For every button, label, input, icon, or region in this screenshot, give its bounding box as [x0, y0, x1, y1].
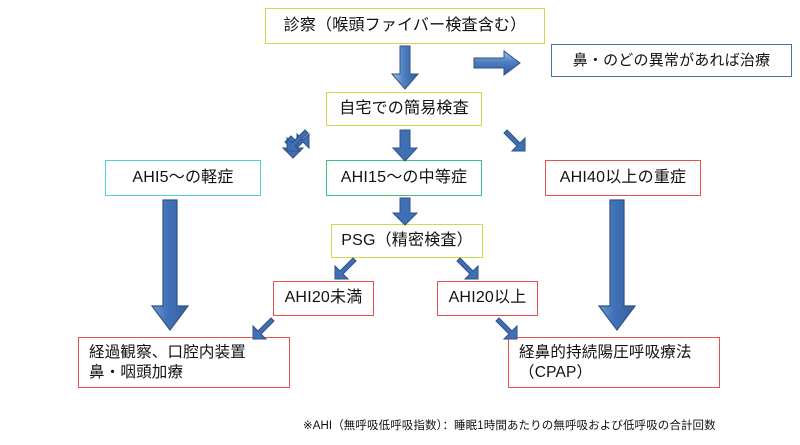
- node-mild: AHI5〜の軽症: [105, 160, 261, 196]
- node-nose-throat-treatment: 鼻・のどの異常があれば治療: [551, 44, 792, 77]
- node-psg-label: PSG（精密検査）: [332, 231, 482, 251]
- node-conservative-treatment: 経過観察、口腔内装置 鼻・咽頭加療: [78, 337, 290, 388]
- node-exam-label: 診察（喉頭ファイバー検査含む）: [266, 16, 544, 36]
- node-cpap-treatment-label: 経鼻的持続陽圧呼吸療法 （CPAP）: [519, 343, 719, 383]
- node-home-test: 自宅での簡易検査: [326, 92, 482, 126]
- footnote-line-1: ※AHI（無呼吸低呼吸指数）：睡眠1時間あたりの無呼吸および低呼吸の合計回数: [303, 420, 716, 432]
- node-ahi20-over-label: AHI20以上: [438, 288, 537, 308]
- node-cpap-treatment: 経鼻的持続陽圧呼吸療法 （CPAP）: [508, 337, 720, 388]
- node-exam: 診察（喉頭ファイバー検査含む）: [265, 8, 545, 44]
- node-severe-label: AHI40以上の重症: [546, 168, 700, 188]
- arrow-home-test-to-moderate: [392, 130, 418, 162]
- node-mild-label: AHI5〜の軽症: [106, 168, 260, 188]
- flowchart-canvas: 診察（喉頭ファイバー検査含む） 鼻・のどの異常があれば治療 自宅での簡易検査 A…: [0, 0, 800, 445]
- node-psg: PSG（精密検査）: [331, 224, 483, 258]
- footnote-ahi-definition: ※AHI（無呼吸低呼吸指数）：睡眠1時間あたりの無呼吸および低呼吸の合計回数 5…: [303, 401, 793, 445]
- node-home-test-label: 自宅での簡易検査: [327, 99, 481, 119]
- node-conservative-treatment-label: 経過観察、口腔内装置 鼻・咽頭加療: [89, 343, 289, 383]
- node-ahi20-under-label: AHI20未満: [274, 288, 373, 308]
- node-moderate-label: AHI15〜の中等症: [327, 168, 481, 188]
- arrow-home-test-to-mild: [281, 130, 313, 162]
- arrow-mild-to-conservative: [150, 200, 190, 332]
- node-moderate: AHI15〜の中等症: [326, 160, 482, 196]
- arrow-home-test-to-severe: [499, 130, 531, 162]
- arrow-moderate-to-psg: [392, 198, 418, 226]
- node-ahi20-over: AHI20以上: [437, 281, 538, 316]
- arrow-exam-to-nose-throat: [474, 50, 522, 76]
- node-nose-throat-treatment-label: 鼻・のどの異常があれば治療: [552, 51, 791, 70]
- arrow-exam-to-home-test: [390, 46, 420, 90]
- node-ahi20-under: AHI20未満: [273, 281, 374, 316]
- arrow-severe-to-cpap: [597, 200, 637, 332]
- node-severe: AHI40以上の重症: [545, 160, 701, 196]
